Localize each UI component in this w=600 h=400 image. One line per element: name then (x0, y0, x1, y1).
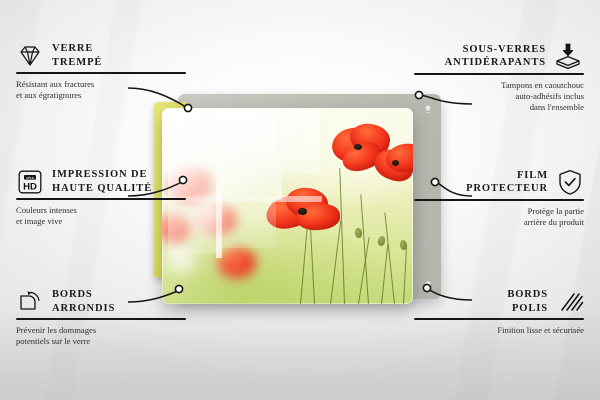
callout-sous-verres-antiderapants[interactable]: SOUS-VERRES ANTIDÉRAPANTS Tampons en cao… (414, 42, 584, 114)
callout-bords-polis[interactable]: BORDS POLIS Finition lisse et sécurisée (414, 288, 584, 336)
callout-description: Résistant aux fractures et aux égratignu… (16, 79, 186, 102)
badge-ultra-text: ultra (26, 175, 34, 179)
poppy-flower-center (266, 188, 340, 236)
callout-title: VERRE TREMPÉ (52, 42, 102, 69)
callout-title: BORDS ARRONDIS (52, 288, 115, 315)
callout-description: Couleurs intenses et image vive (16, 205, 186, 228)
callout-title: BORDS POLIS (507, 288, 548, 315)
callout-title: SOUS-VERRES ANTIDÉRAPANTS (445, 43, 546, 70)
glass-panel (162, 108, 413, 304)
callout-title: IMPRESSION DE HAUTE QUALITÉ (52, 168, 152, 195)
callout-rule (414, 318, 584, 320)
callout-description: Protège la partie arrière du produit (414, 206, 584, 229)
product-image (150, 82, 450, 327)
poppy-artwork (162, 108, 413, 304)
callout-rule (16, 198, 186, 200)
diamond-icon (16, 44, 44, 68)
badge-hd-text: HD (23, 181, 37, 192)
callout-description: Tampons en caoutchouc auto-adhésifs incl… (414, 80, 584, 114)
ultra-hd-badge-icon: ultra HD (16, 169, 44, 195)
polished-edge-icon (556, 290, 584, 314)
callout-bords-arrondis[interactable]: BORDS ARRONDIS Prévenir les dommages pot… (16, 288, 186, 347)
callout-rule (16, 72, 186, 74)
callout-verre-trempe[interactable]: VERRE TREMPÉ Résistant aux fractures et … (16, 42, 186, 101)
coaster-pad-icon (554, 42, 584, 70)
callout-title: FILM PROTECTEUR (466, 169, 548, 196)
callout-film-protecteur[interactable]: FILM PROTECTEUR Protège la partie arrièr… (414, 168, 584, 228)
callout-description: Prévenir les dommages potentiels sur le … (16, 325, 186, 348)
callout-impression-haute-qualite[interactable]: ultra HD IMPRESSION DE HAUTE QUALITÉ Cou… (16, 168, 186, 227)
callout-rule (16, 318, 186, 320)
rounded-corner-icon (16, 289, 44, 315)
callout-rule (414, 73, 584, 75)
callout-description: Finition lisse et sécurisée (414, 325, 584, 336)
mounting-screw-bottom-right (425, 281, 432, 288)
callout-rule (414, 199, 584, 201)
shield-check-icon (556, 168, 584, 196)
poppy-flower-right (374, 144, 413, 190)
